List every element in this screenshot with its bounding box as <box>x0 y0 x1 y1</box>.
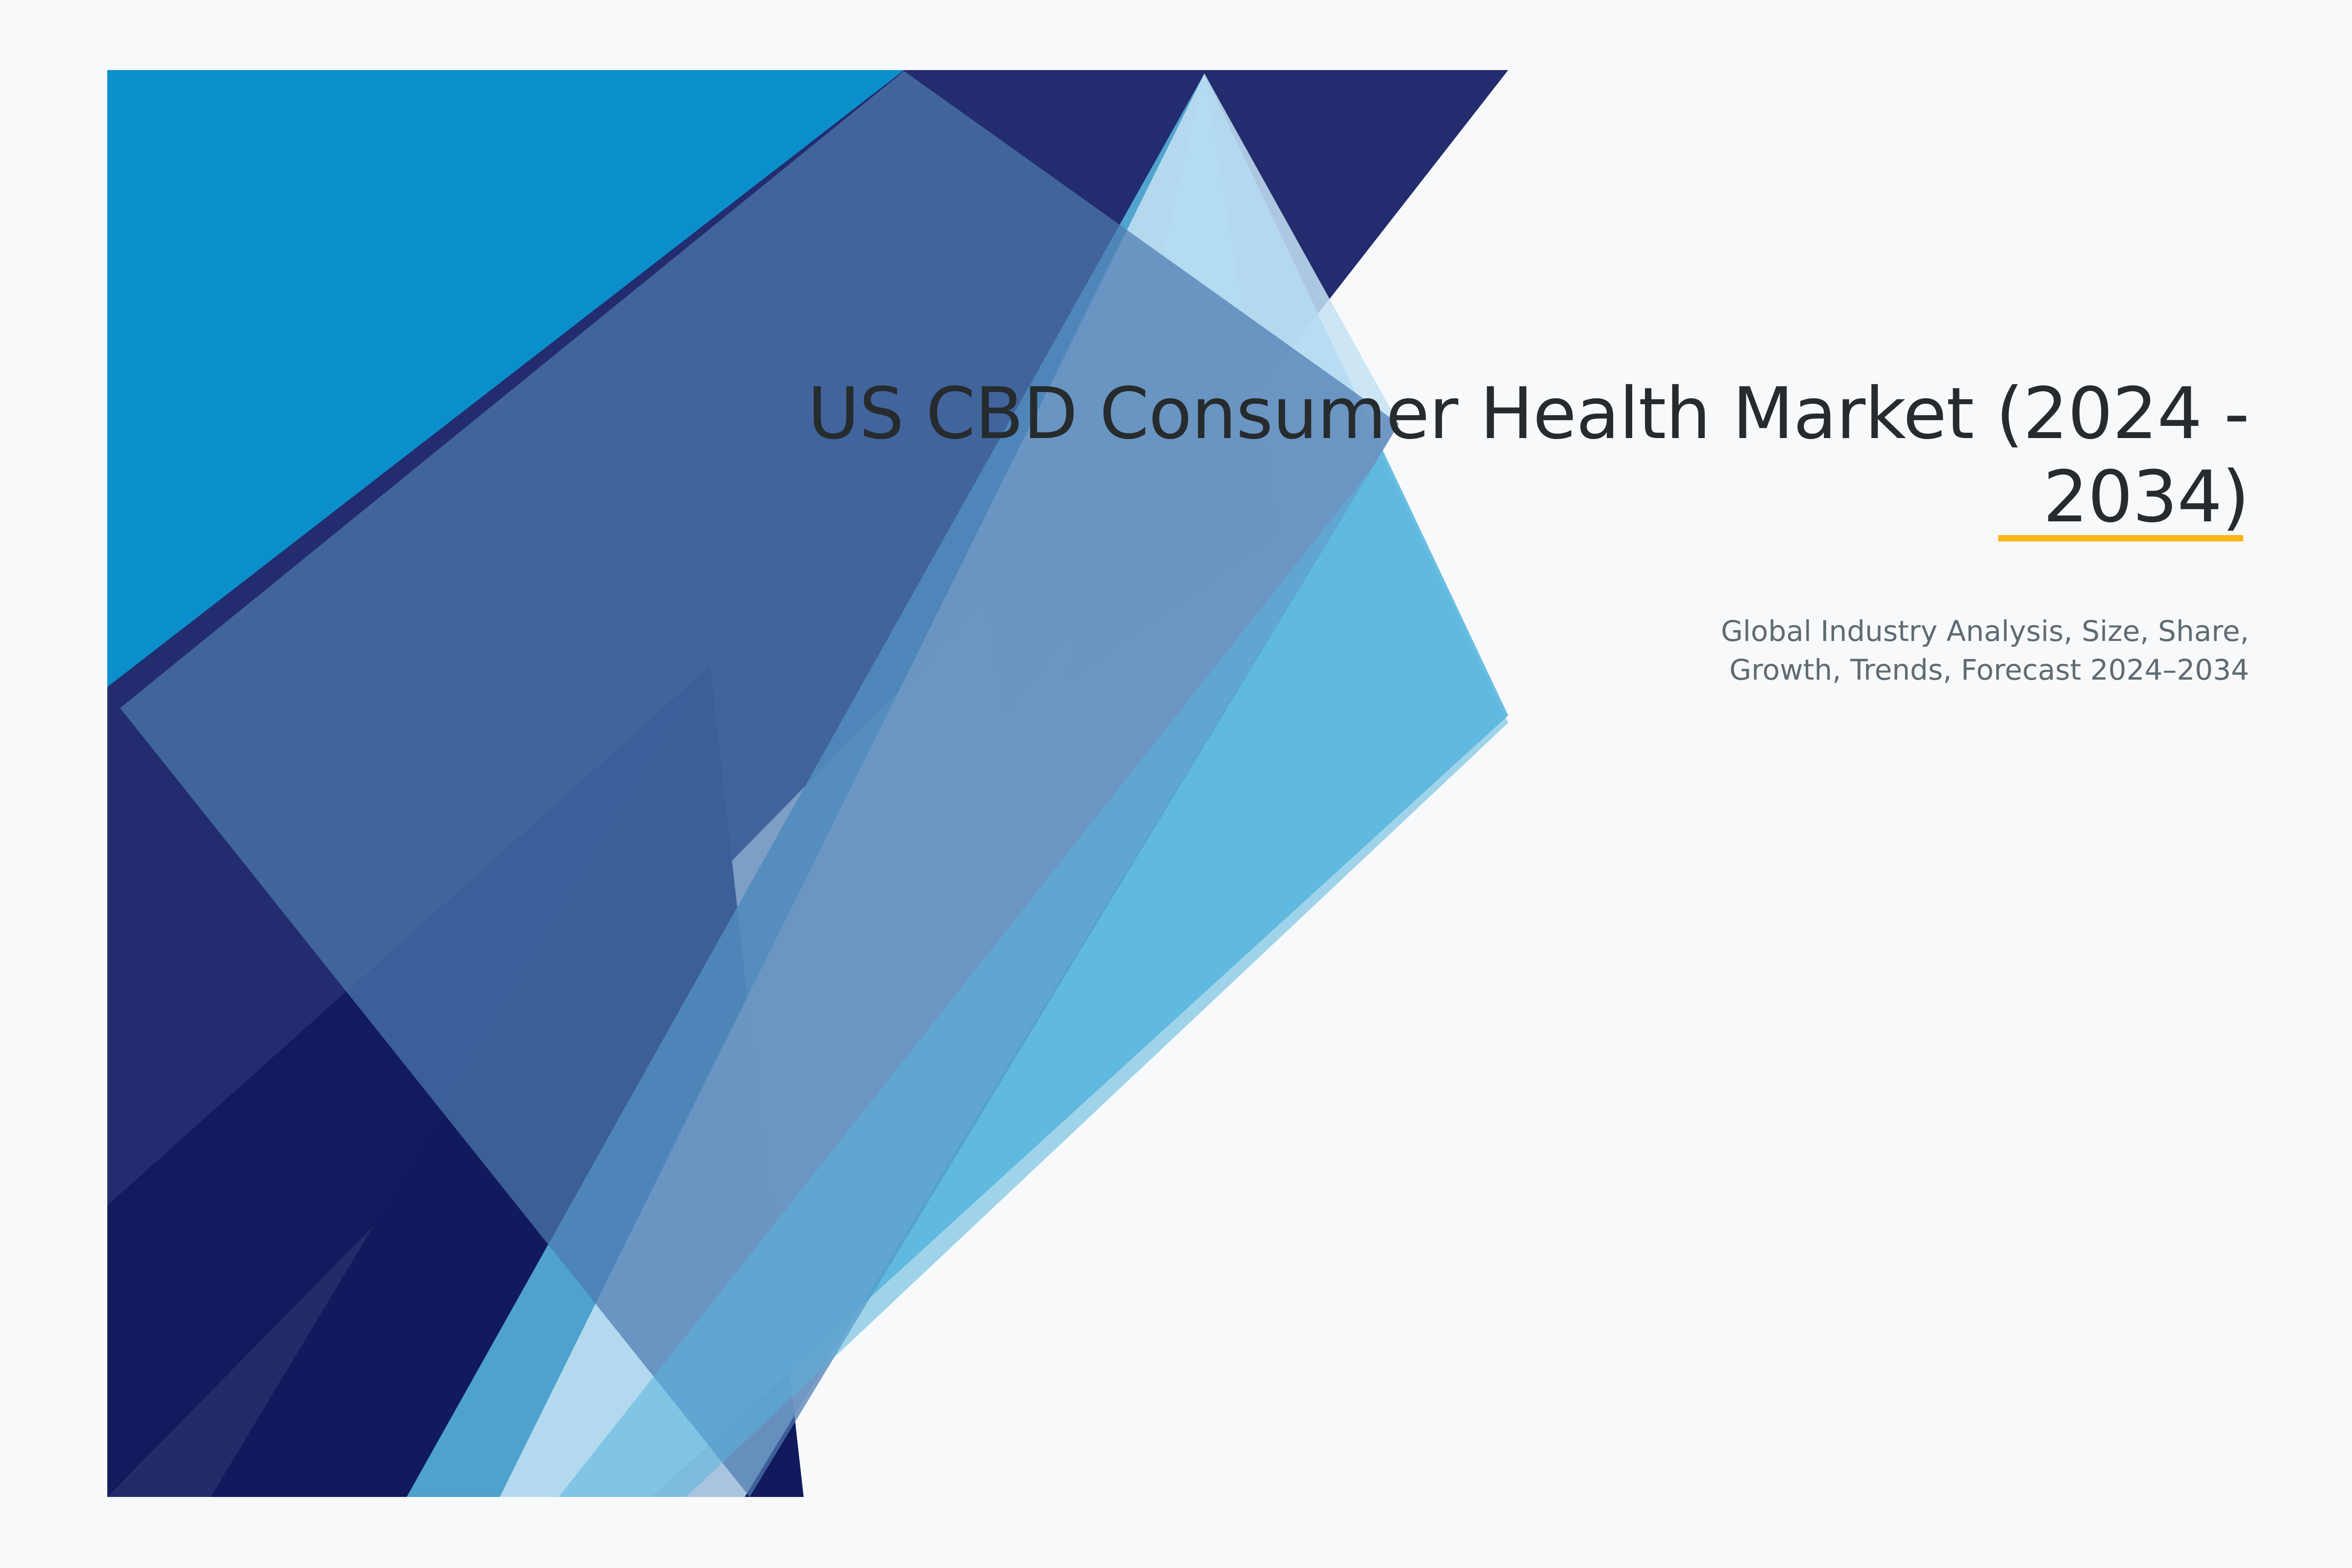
page-title: US CBD Consumer Health Market (2024 - 20… <box>764 372 2249 539</box>
title-wrapper: US CBD Consumer Health Market (2024 - 20… <box>764 372 2249 539</box>
artwork-svg <box>0 0 2352 1568</box>
abstract-geometric-artwork <box>0 0 2352 1568</box>
cover-text-block: US CBD Consumer Health Market (2024 - 20… <box>764 372 2249 689</box>
page-subtitle: Global Industry Analysis, Size, Share, G… <box>1632 539 2249 689</box>
report-cover-page: US CBD Consumer Health Market (2024 - 20… <box>0 0 2352 1568</box>
